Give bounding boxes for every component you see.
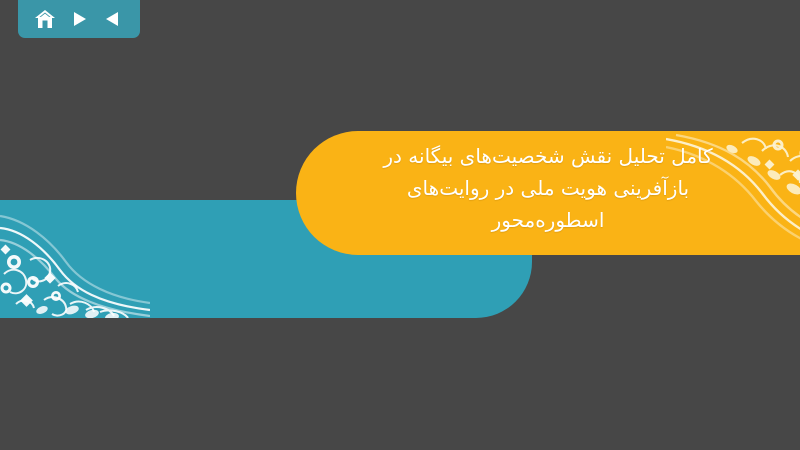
navigation-bar <box>18 0 140 38</box>
triangle-left-icon <box>103 9 123 29</box>
back-button[interactable] <box>100 6 126 32</box>
slide-stage: کامل تحلیل نقش شخصیت‌های بیگانه در بازآف… <box>0 0 800 450</box>
arabesque-corner-ornament-teal <box>0 200 150 318</box>
home-button[interactable] <box>32 6 58 32</box>
home-icon <box>34 8 56 30</box>
title-line-3: اسطوره‌محور <box>492 204 605 236</box>
slide-title: کامل تحلیل نقش شخصیت‌های بیگانه در بازآف… <box>300 136 796 252</box>
title-line-2: بازآفرینی هویت ملی در روایت‌های <box>407 172 689 204</box>
forward-button[interactable] <box>66 6 92 32</box>
triangle-right-icon <box>69 9 89 29</box>
title-line-1: کامل تحلیل نقش شخصیت‌های بیگانه در <box>383 140 712 172</box>
